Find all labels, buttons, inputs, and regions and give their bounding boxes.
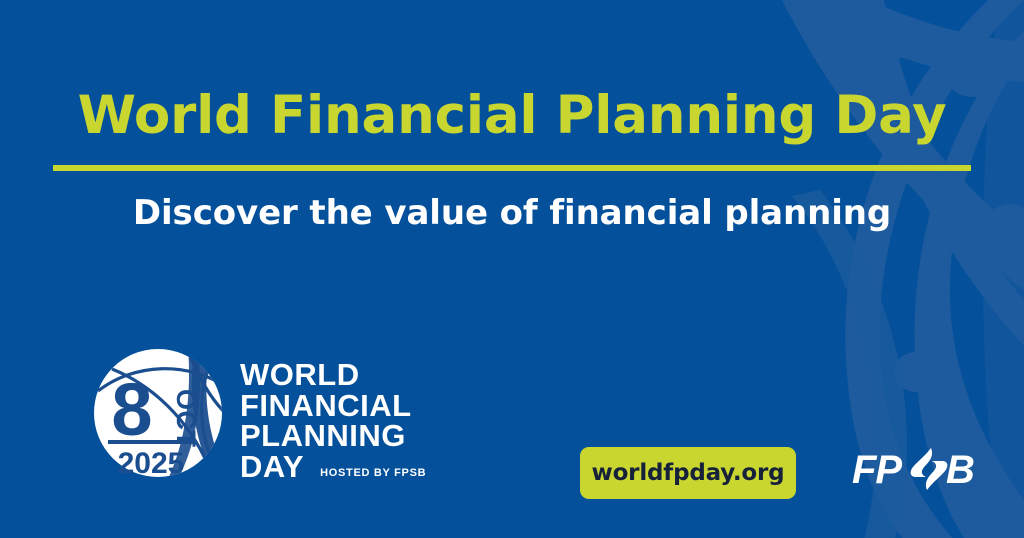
wordmark-line-day: DAY (240, 452, 304, 483)
wordmark-line-planning: PLANNING (240, 421, 426, 452)
fpsb-wordmark-left: FP (852, 448, 902, 492)
badge-day: 8 (111, 368, 152, 451)
wordmark-line-world: WORLD (240, 360, 426, 391)
badge-month: OCT (171, 389, 201, 448)
wordmark-line-financial: FINANCIAL (240, 391, 426, 422)
badge-year: 2025 (118, 447, 185, 479)
title-divider-rule (53, 165, 971, 171)
headline-block: World Financial Planning Day Discover th… (0, 88, 1024, 233)
wfpd-logo-lockup: 8 OCT 2025 WORLD FINANCIAL PLANNING DAY … (92, 347, 426, 483)
wordmark-last-row: DAY HOSTED BY FPSB (240, 452, 426, 483)
world-financial-planning-day-banner: World Financial Planning Day Discover th… (0, 0, 1024, 538)
fpsb-wordmark-right: B (946, 448, 974, 492)
page-title: World Financial Planning Day (0, 88, 1024, 143)
fpsb-flame-mark (911, 448, 948, 490)
fpsb-logo: FP B (852, 444, 978, 494)
wfpd-wordmark: WORLD FINANCIAL PLANNING DAY HOSTED BY F… (240, 347, 426, 483)
hosted-by-label: HOSTED BY FPSB (320, 467, 426, 483)
website-button[interactable]: worldfpday.org (580, 447, 796, 499)
page-subtitle: Discover the value of financial planning (0, 195, 1024, 232)
date-badge: 8 OCT 2025 (92, 347, 224, 479)
